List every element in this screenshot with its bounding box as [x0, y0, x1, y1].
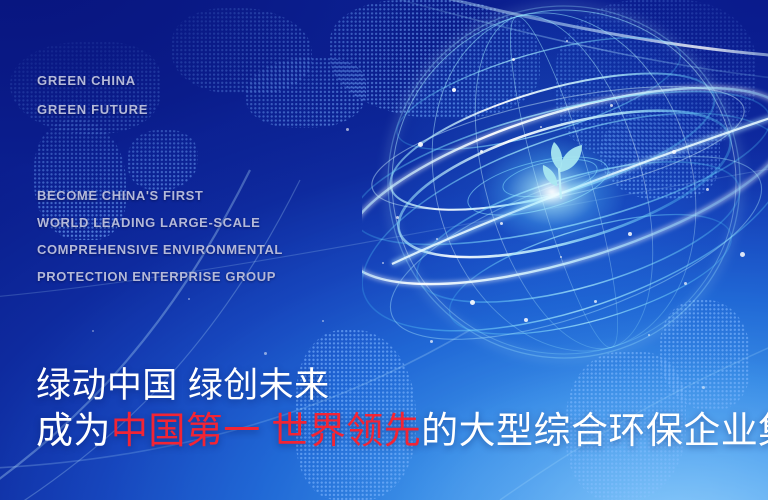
claim-line-4: PROTECTION ENTERPRISE GROUP — [37, 269, 276, 284]
eyebrow-line-1: GREEN CHINA — [37, 73, 136, 88]
eyebrow-line-2: GREEN FUTURE — [37, 102, 148, 117]
claim-line-1: BECOME CHINA'S FIRST — [37, 188, 203, 203]
headline-highlight: 中国第一 世界领先 — [111, 410, 421, 451]
claim-line-3: COMPREHENSIVE ENVIRONMENTAL — [37, 242, 283, 257]
claim-line-2: WORLD LEADING LARGE-SCALE — [37, 215, 260, 230]
headline-line-2: 成为中国第一 世界领先的大型综合环保企业集团 — [36, 412, 768, 449]
headline-line-1: 绿动中国 绿创未来 — [36, 368, 330, 403]
headline-prefix: 成为 — [36, 410, 111, 451]
banner-stage: GREEN CHINA GREEN FUTURE BECOME CHINA'S … — [0, 0, 768, 500]
headline-suffix: 的大型综合环保企业集团 — [421, 410, 768, 451]
